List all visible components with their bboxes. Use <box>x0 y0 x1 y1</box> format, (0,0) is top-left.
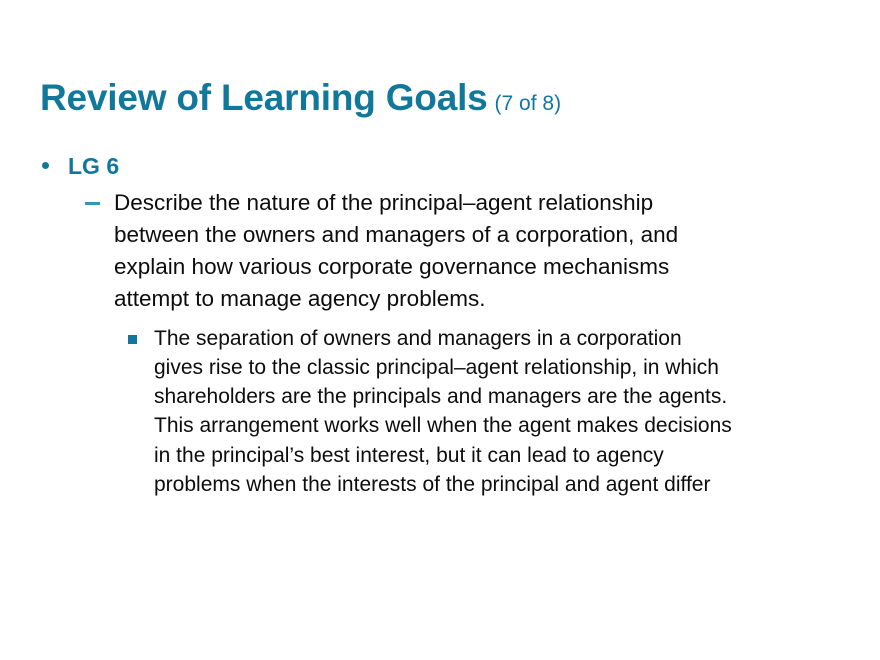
bullet-level3-line: shareholders are the principals and mana… <box>154 382 852 411</box>
bullet-level1: LG 6 <box>0 152 880 181</box>
dot-bullet-icon <box>42 162 49 169</box>
bullet-level2-line: attempt to manage agency problems. <box>114 283 840 315</box>
bullet-level3-line: problems when the interests of the princ… <box>154 470 852 499</box>
square-bullet-icon <box>128 335 137 344</box>
dash-bullet-icon <box>85 202 100 205</box>
bullet-level3-line: gives rise to the classic principal–agen… <box>154 353 852 382</box>
page-title: Review of Learning Goals(7 of 8) <box>40 78 840 119</box>
bullet-level3-line: The separation of owners and managers in… <box>154 324 852 353</box>
bullet-level3: The separation of owners and managers in… <box>0 324 880 499</box>
page-title-suffix: (7 of 8) <box>495 92 562 115</box>
bullet-level2-line: between the owners and managers of a cor… <box>114 219 840 251</box>
bullet-level3-line: in the principal’s best interest, but it… <box>154 441 852 470</box>
bullet-level2: Describe the nature of the principal–age… <box>0 187 880 315</box>
page-title-main: Review of Learning Goals <box>40 77 488 118</box>
bullet-level2-line: explain how various corporate governance… <box>114 251 840 283</box>
slide: Review of Learning Goals(7 of 8) LG 6 De… <box>0 0 880 660</box>
bullet-level2-line: Describe the nature of the principal–age… <box>114 187 840 219</box>
bullet-level1-label: LG 6 <box>68 153 119 179</box>
slide-body: LG 6 Describe the nature of the principa… <box>0 152 880 499</box>
bullet-level3-line: This arrangement works well when the age… <box>154 411 852 440</box>
